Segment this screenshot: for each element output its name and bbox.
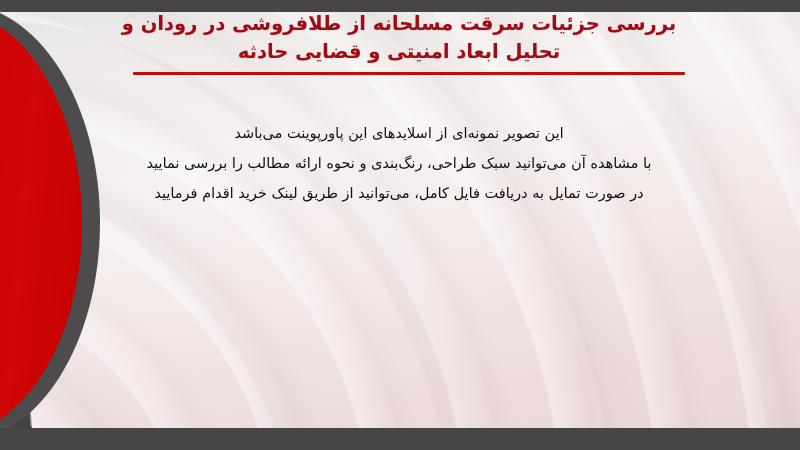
- slide-title-block: بررسی جزئیات سرقت مسلحانه از طلافروشی در…: [110, 10, 688, 66]
- body-line-2: با مشاهده آن می‌توانید سبک طراحی، رنگ‌بن…: [110, 152, 688, 176]
- slide-title-line-1: بررسی جزئیات سرقت مسلحانه از طلافروشی در…: [122, 12, 676, 35]
- body-line-1: این تصویر نمونه‌ای از اسلایدهای این پاور…: [110, 122, 688, 146]
- page-title: بررسی جزئیات سرقت مسلحانه از طلافروشی در…: [110, 10, 688, 66]
- slide-content: بررسی جزئیات سرقت مسلحانه از طلافروشی در…: [0, 0, 800, 450]
- slide-title-line-2: تحلیل ابعاد امنیتی و قضایی حادثه: [238, 40, 560, 63]
- presentation-slide: بررسی جزئیات سرقت مسلحانه از طلافروشی در…: [0, 0, 800, 450]
- body-line-3: در صورت تمایل به دریافت فایل کامل، می‌تو…: [110, 182, 688, 206]
- slide-body-block: این تصویر نمونه‌ای از اسلایدهای این پاور…: [110, 122, 688, 206]
- title-underline-rule: [133, 72, 685, 75]
